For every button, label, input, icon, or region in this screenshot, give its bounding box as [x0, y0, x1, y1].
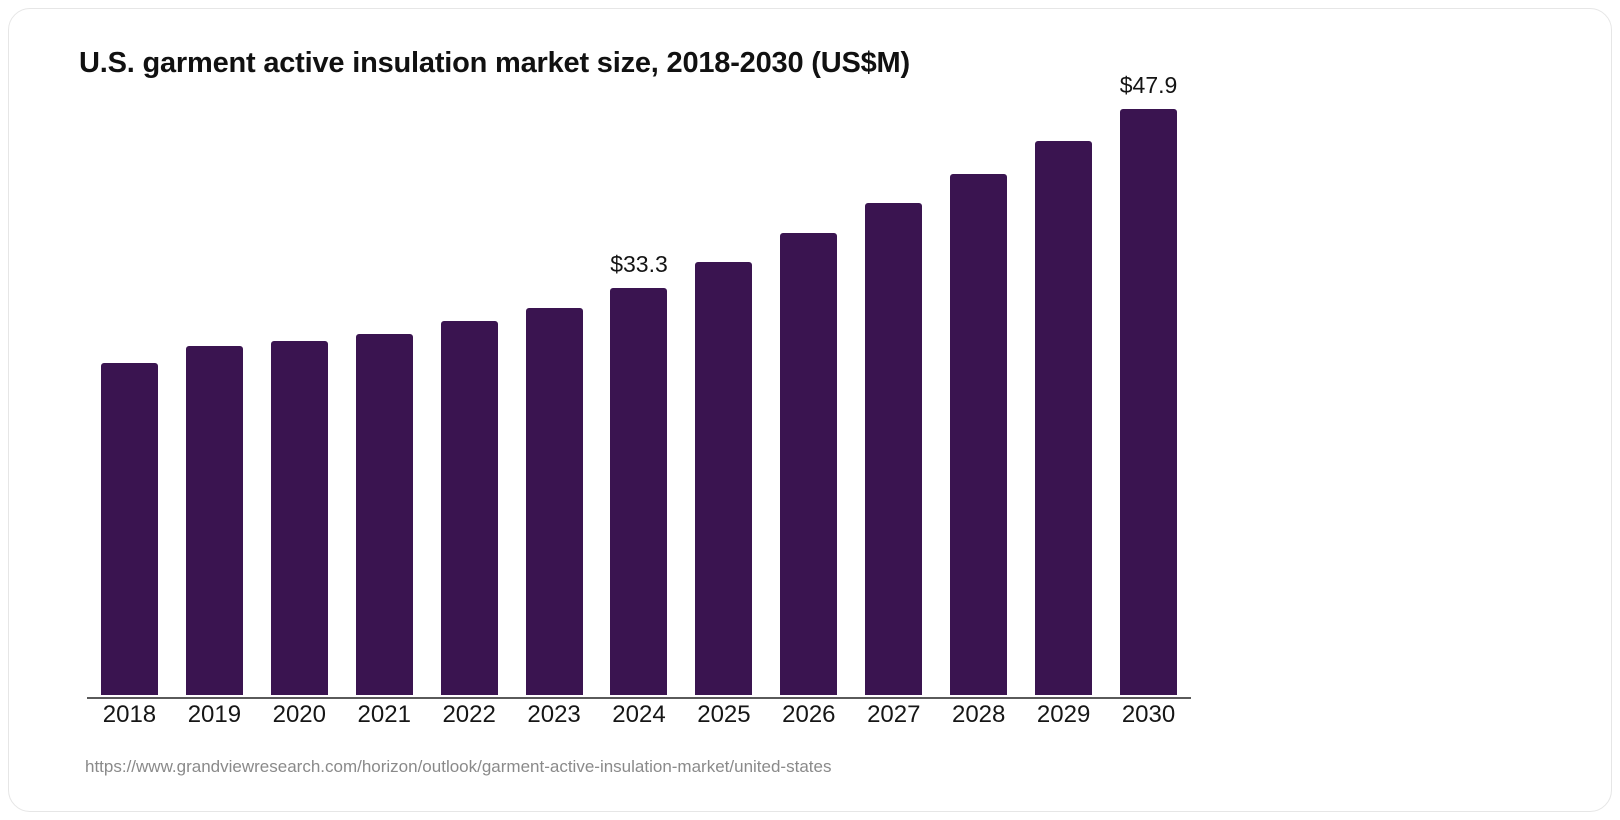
chart-page: U.S. garment active insulation market si…: [0, 0, 1620, 820]
bar-slot: [1021, 109, 1106, 695]
bar-slot: [512, 109, 597, 695]
bar-slot: [257, 109, 342, 695]
x-tick-label: 2030: [1106, 701, 1191, 729]
x-tick-label: 2024: [597, 701, 682, 729]
plot-area: $33.3$47.9: [87, 109, 1191, 699]
bar-value-label: $47.9: [1120, 72, 1178, 99]
bar-slot: $47.9: [1106, 109, 1191, 695]
bar-value-label: $33.3: [610, 251, 668, 278]
bar-slot: [342, 109, 427, 695]
bar[interactable]: [610, 288, 667, 695]
bar-slot: [936, 109, 1021, 695]
bar-slot: [851, 109, 936, 695]
bar[interactable]: [1120, 109, 1177, 695]
x-tick-label: 2022: [427, 701, 512, 729]
bar[interactable]: [865, 203, 922, 695]
bar-slot: [427, 109, 512, 695]
bar[interactable]: [356, 334, 413, 695]
x-tick-label: 2018: [87, 701, 172, 729]
bar-slot: [87, 109, 172, 695]
x-tick-label: 2029: [1021, 701, 1106, 729]
bar-slot: [766, 109, 851, 695]
bar-slot: [681, 109, 766, 695]
x-tick-label: 2027: [851, 701, 936, 729]
bar[interactable]: [526, 308, 583, 695]
x-axis-tick-labels: 2018201920202021202220232024202520262027…: [87, 701, 1191, 729]
chart-card: U.S. garment active insulation market si…: [8, 8, 1612, 812]
bar[interactable]: [186, 346, 243, 695]
x-tick-label: 2020: [257, 701, 342, 729]
bar[interactable]: [441, 321, 498, 695]
x-tick-label: 2028: [936, 701, 1021, 729]
bar[interactable]: [271, 341, 328, 695]
bar[interactable]: [1035, 141, 1092, 695]
source-url[interactable]: https://www.grandviewresearch.com/horizo…: [85, 757, 831, 777]
bar-slot: [172, 109, 257, 695]
x-tick-label: 2025: [681, 701, 766, 729]
x-tick-label: 2019: [172, 701, 257, 729]
x-tick-label: 2021: [342, 701, 427, 729]
bar-series: $33.3$47.9: [87, 109, 1191, 695]
bar[interactable]: [950, 174, 1007, 695]
x-tick-label: 2023: [512, 701, 597, 729]
x-tick-label: 2026: [766, 701, 851, 729]
bar[interactable]: [695, 262, 752, 695]
bar-slot: $33.3: [597, 109, 682, 695]
page-title: U.S. garment active insulation market si…: [79, 47, 910, 80]
bar[interactable]: [101, 363, 158, 695]
bar[interactable]: [780, 233, 837, 695]
x-axis-line: [87, 697, 1191, 699]
